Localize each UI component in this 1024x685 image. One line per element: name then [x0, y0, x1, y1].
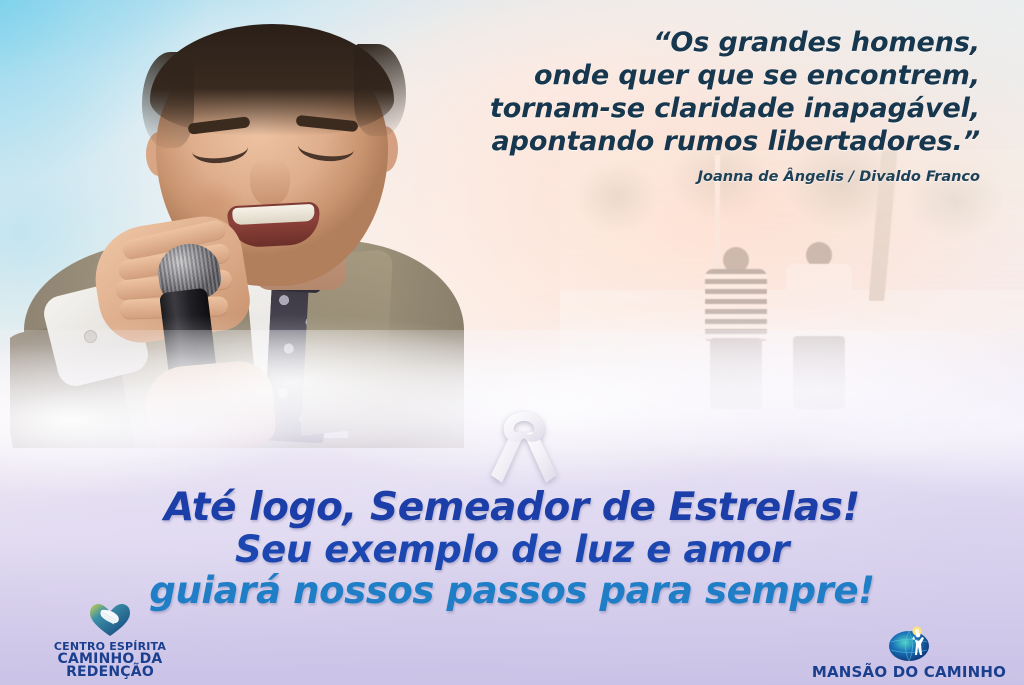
portrait-nose	[250, 158, 290, 206]
portrait-hair-side-left	[142, 52, 194, 148]
quote-block: “Os grandes homens, onde quer que se enc…	[440, 26, 980, 185]
quote-line-2: onde quer que se encontrem,	[440, 59, 980, 92]
globe-figure-icon	[886, 625, 932, 663]
headline-line-1: Até logo, Semeador de Estrelas!	[0, 487, 1024, 529]
quote-line-4: apontando rumos libertadores.”	[440, 125, 980, 158]
logo-line-2: CAMINHO DA REDENÇÃO	[14, 653, 206, 679]
logo-centro-espirita[interactable]: CENTRO ESPÍRITA CAMINHO DA REDENÇÃO	[14, 603, 206, 679]
heart-hands-icon	[89, 603, 131, 637]
mourning-ribbon-icon	[489, 409, 559, 487]
quote-line-1: “Os grandes homens,	[440, 26, 980, 59]
headline-block: Até logo, Semeador de Estrelas! Seu exem…	[0, 487, 1024, 611]
portrait-teeth	[232, 204, 315, 225]
quote-attribution: Joanna de Ângelis / Divaldo Franco	[440, 169, 980, 185]
quote-line-3: tornam-se claridade inapagável,	[440, 92, 980, 125]
logo-centro-espirita-label: CENTRO ESPÍRITA CAMINHO DA REDENÇÃO	[14, 640, 206, 679]
headline-line-2: Seu exemplo de luz e amor	[0, 529, 1024, 570]
portrait-hair-side-right	[354, 44, 406, 136]
logo-mansao-label: MANSÃO DO CAMINHO	[804, 666, 1014, 679]
logo-mansao-do-caminho[interactable]: MANSÃO DO CAMINHO	[804, 625, 1014, 679]
memorial-poster: “Os grandes homens, onde quer que se enc…	[0, 0, 1024, 685]
